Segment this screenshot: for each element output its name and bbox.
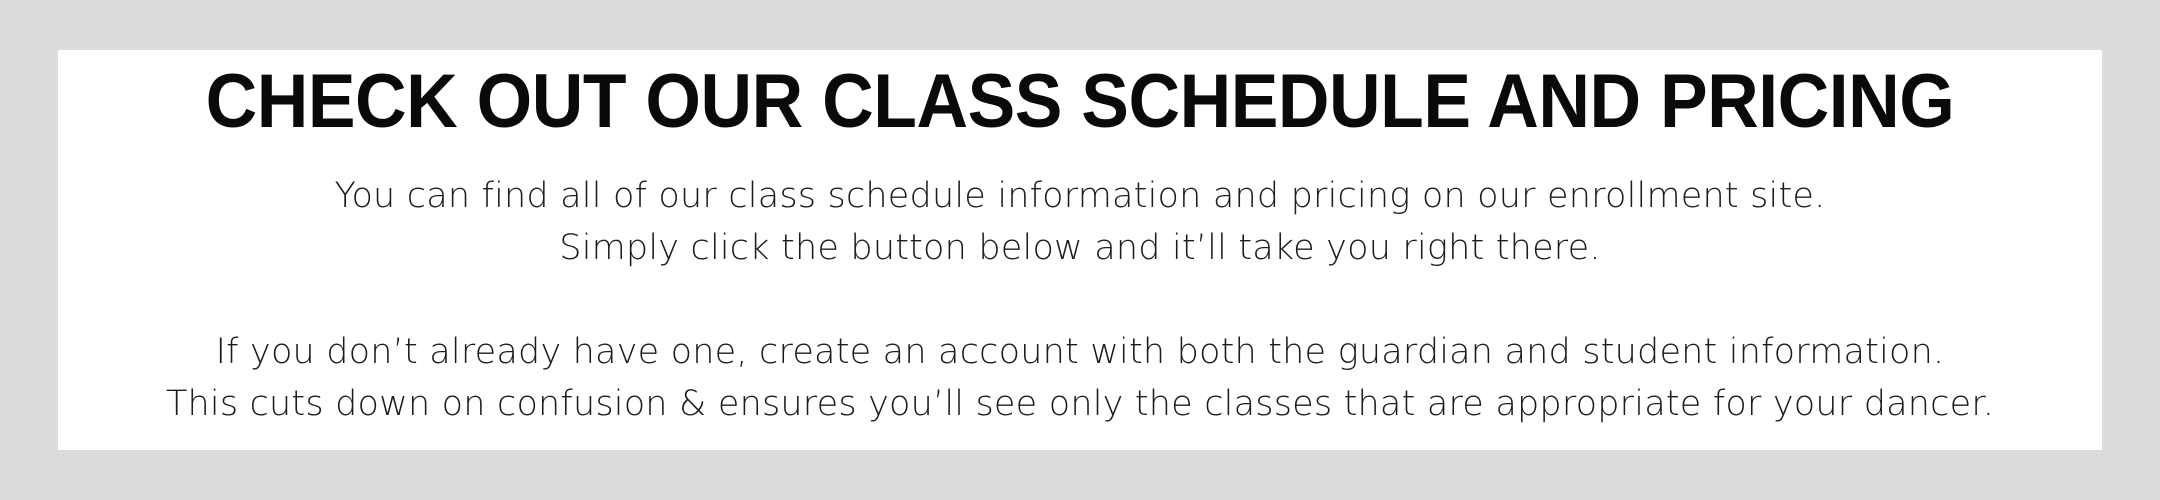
paragraph-line: Simply click the button below and it’ll …: [58, 222, 2102, 274]
paragraph-account-instructions: If you don’t already have one, create an…: [58, 326, 2102, 430]
card-body-text: You can find all of our class schedule i…: [58, 170, 2102, 430]
paragraph-spacer: [58, 274, 2102, 326]
page-canvas: CHECK OUT OUR CLASS SCHEDULE AND PRICING…: [0, 0, 2160, 500]
page-title: CHECK OUT OUR CLASS SCHEDULE AND PRICING: [119, 64, 2040, 140]
paragraph-line: If you don’t already have one, create an…: [58, 326, 2102, 378]
paragraph-line: This cuts down on confusion & ensures yo…: [58, 378, 2102, 430]
paragraph-enrollment-info: You can find all of our class schedule i…: [58, 170, 2102, 274]
announcement-card: CHECK OUT OUR CLASS SCHEDULE AND PRICING…: [58, 50, 2102, 450]
paragraph-line: You can find all of our class schedule i…: [58, 170, 2102, 222]
